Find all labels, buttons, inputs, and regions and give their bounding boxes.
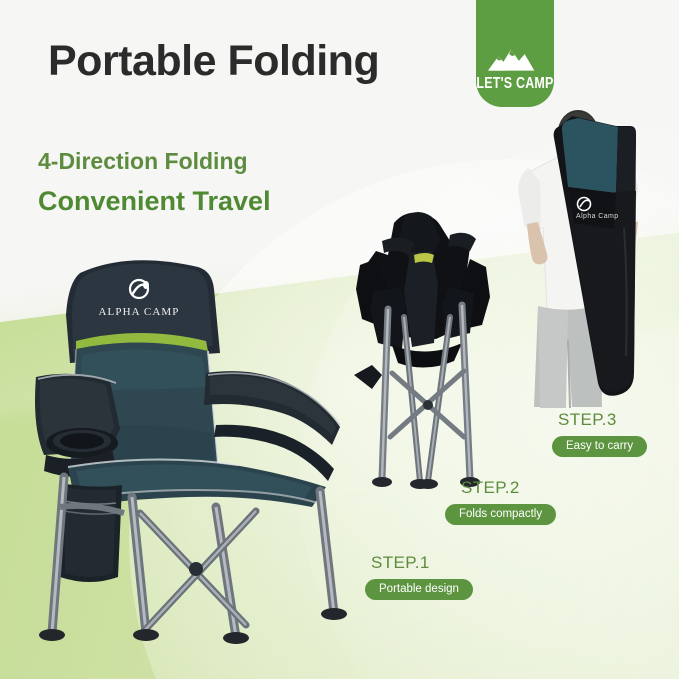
product-marketing-image: Portable Folding 4-Direction Folding Con…	[0, 0, 679, 679]
step-1-label: STEP.1 Portable design	[371, 553, 473, 600]
step-3-label: STEP.3 Easy to carry	[558, 410, 647, 457]
page-title: Portable Folding	[48, 40, 379, 83]
svg-text:Alpha Camp: Alpha Camp	[576, 213, 619, 220]
subtitle-line-1: 4-Direction Folding	[38, 148, 248, 175]
step-2-title: STEP.2	[461, 478, 556, 498]
carry-bag-panel	[562, 118, 618, 193]
chair-brand-label: ALPHA CAMP	[99, 306, 180, 318]
step-3-caption: Easy to carry	[552, 436, 647, 457]
step-2-caption: Folds compactly	[445, 504, 556, 525]
mountain-icon	[486, 44, 544, 74]
person-carrying-chair-bag: Alpha Camp	[500, 108, 679, 408]
brand-badge: LET'S CAMP	[476, 0, 554, 107]
step-2-label: STEP.2 Folds compactly	[461, 478, 556, 525]
folded-camping-chair	[352, 205, 517, 495]
step-1-title: STEP.1	[371, 553, 473, 573]
folded-chair-fabric	[354, 212, 490, 389]
brand-badge-label: LET'S CAMP	[476, 74, 553, 91]
cup-holder	[60, 433, 104, 449]
chair-side-pocket	[60, 483, 122, 582]
subtitle-line-2: Convenient Travel	[38, 186, 271, 217]
unfolded-camping-chair: ALPHA CAMP	[20, 245, 370, 645]
step-1-caption: Portable design	[365, 579, 473, 600]
step-3-title: STEP.3	[558, 410, 647, 430]
